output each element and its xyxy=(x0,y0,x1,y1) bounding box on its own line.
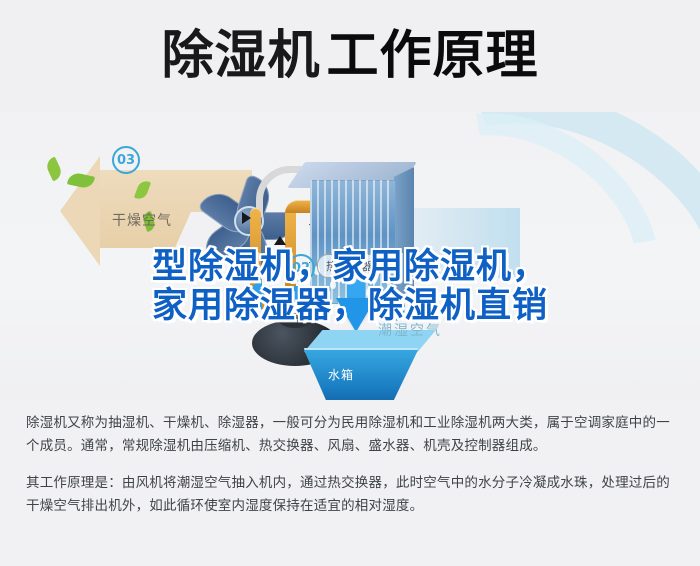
water-tank: 水箱 xyxy=(304,330,436,400)
humid-air-label: 潮湿空气 xyxy=(378,320,442,340)
water-tank-front xyxy=(304,350,418,400)
step-badge-02: 02 xyxy=(287,254,315,282)
body-copy: 除湿机又称为抽湿机、干燥机、除湿器，一般可分为民用除湿机和工业除湿机两大类，属于… xyxy=(26,412,678,518)
step-badge-03: 03 xyxy=(112,146,140,174)
droplet-icon xyxy=(322,302,328,311)
droplet-icon xyxy=(366,288,372,297)
droplet-icon xyxy=(330,280,336,289)
water-drop-arrow-icon xyxy=(336,298,376,332)
flow-arrow-right-icon xyxy=(242,212,251,224)
air-intake-arrow-body xyxy=(258,286,322,302)
page-title: 除湿机工作原理 xyxy=(0,26,700,86)
flow-arrow-up-icon xyxy=(274,236,286,245)
page-title-part1: 除湿机 xyxy=(161,26,320,86)
step-badge-01: 01 xyxy=(377,294,405,322)
water-tank-label: 水箱 xyxy=(328,366,354,383)
infographic-page: 除湿机工作原理 干燥空气 03 xyxy=(0,0,700,566)
body-paragraph-1: 除湿机又称为抽湿机、干燥机、除湿器，一般可分为民用除湿机和工业除湿机两大类，属于… xyxy=(26,412,678,458)
air-intake-arrow-head xyxy=(244,278,262,310)
heat-exchanger-callout: 热交换器 xyxy=(317,254,383,278)
body-paragraph-2: 其工作原理是：由风机将潮湿空气抽入机内，通过热交换器，此时空气中的水分子冷凝成水… xyxy=(26,472,678,518)
compressor-cap xyxy=(278,310,312,328)
dry-air-arrow-head xyxy=(60,156,100,266)
page-title-part2: 工作原理 xyxy=(327,26,539,86)
dehumidifier-diagram: 干燥空气 03 xyxy=(0,112,700,400)
dry-air-label: 干燥空气 xyxy=(112,210,172,230)
title-band: 除湿机工作原理 xyxy=(0,0,700,120)
